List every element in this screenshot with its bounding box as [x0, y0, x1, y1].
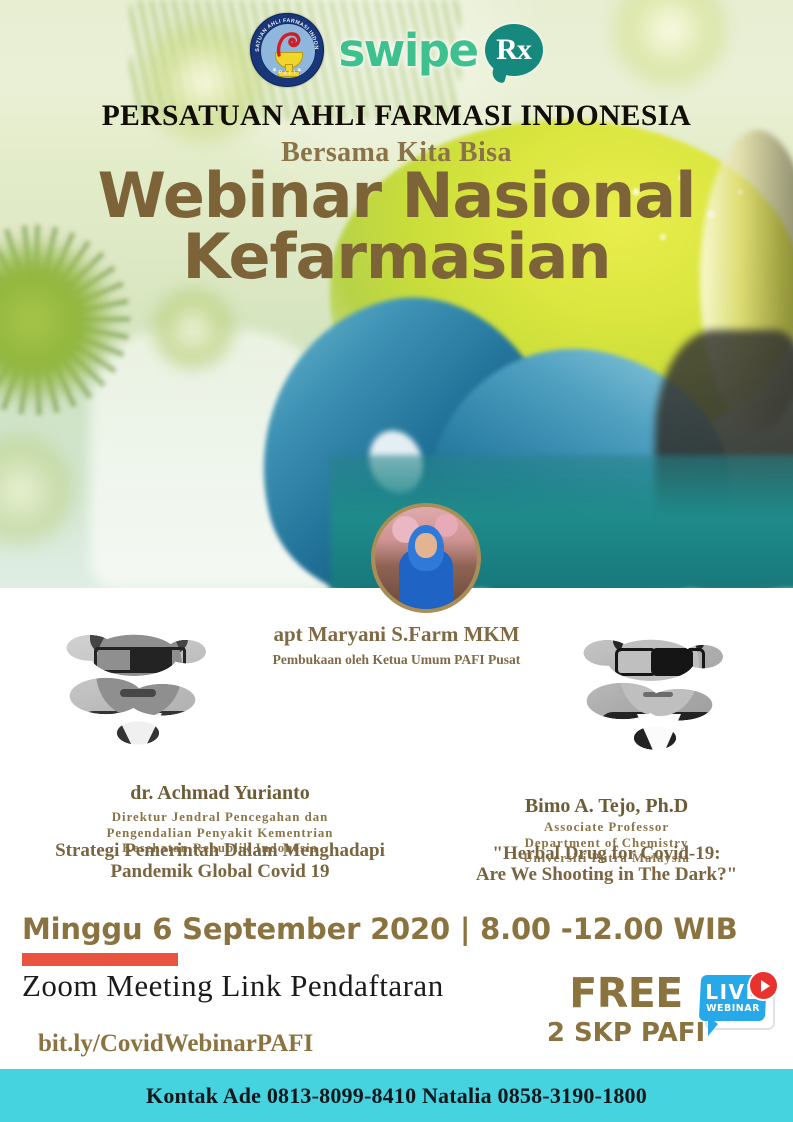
red-accent-bar	[22, 953, 178, 966]
credits-label: 2 SKP PAFI	[546, 1018, 706, 1048]
swipe-wordmark: swipe	[338, 24, 477, 77]
photo-mouth	[120, 689, 156, 697]
left-speaker-photo	[38, 585, 238, 770]
title-line-2: Kefarmasian	[0, 227, 793, 288]
organization-title: PERSATUAN AHLI FARMASI INDONESIA	[0, 100, 793, 133]
svg-text:PERSATUAN AHLI FARMASI INDONES: PERSATUAN AHLI FARMASI INDONESIA	[251, 14, 319, 52]
contact-text: Kontak Ade 0813-8099-8410 Natalia 0858-3…	[146, 1083, 647, 1109]
price-label: FREE	[546, 969, 706, 1017]
webinar-label: WEBINAR	[700, 1003, 766, 1014]
right-speaker-name: Bimo A. Tejo, Ph.D	[420, 795, 793, 818]
registration-link[interactable]: bit.ly/CovidWebinarPAFI	[38, 1030, 313, 1058]
virus-blob-icon	[0, 430, 80, 550]
avatar-face	[415, 533, 437, 558]
pafi-logo-icon: PERSATUAN AHLI FARMASI INDONESIA ★ P A F…	[250, 13, 324, 87]
rx-label: Rx	[496, 35, 531, 65]
registration-label: Zoom Meeting Link Pendaftaran	[22, 968, 444, 1004]
eyeglasses-icon	[94, 647, 186, 667]
webinar-poster: PERSATUAN AHLI FARMASI INDONESIA ★ P A F…	[0, 0, 793, 1122]
left-speaker-name: dr. Achmad Yurianto	[0, 782, 440, 805]
contact-bar: Kontak Ade 0813-8099-8410 Natalia 0858-3…	[0, 1069, 793, 1122]
swiperx-logo: swipe Rx	[338, 24, 542, 77]
event-datetime: Minggu 6 September 2020 | 8.00 -12.00 WI…	[22, 912, 738, 946]
pafi-ring-text: PERSATUAN AHLI FARMASI INDONESIA ★ P A F…	[251, 14, 323, 86]
center-speaker-avatar	[371, 503, 481, 613]
virus-blob-icon	[150, 286, 236, 372]
eyeglasses-icon	[615, 648, 705, 670]
badge-bubble-tail	[708, 1016, 718, 1036]
svg-text:★ P A F I ★: ★ P A F I ★	[270, 66, 304, 77]
right-speaker-photo	[555, 590, 755, 775]
play-button-icon	[748, 970, 779, 1001]
live-webinar-badge: LIVE WEBINAR	[700, 972, 778, 1044]
logo-row: PERSATUAN AHLI FARMASI INDONESIA ★ P A F…	[0, 8, 793, 92]
brush-mask	[38, 585, 238, 770]
photo-mouth	[643, 692, 673, 697]
right-speaker-topic: "Herbal Drug for Covid-19: Are We Shooti…	[420, 843, 793, 886]
page-title: Webinar Nasional Kefarmasian	[0, 166, 793, 288]
rx-bubble-icon: Rx	[485, 24, 543, 76]
brush-mask	[555, 590, 755, 775]
left-speaker-topic: Strategi Pemerintah Dalam Menghadapi Pan…	[0, 840, 440, 883]
